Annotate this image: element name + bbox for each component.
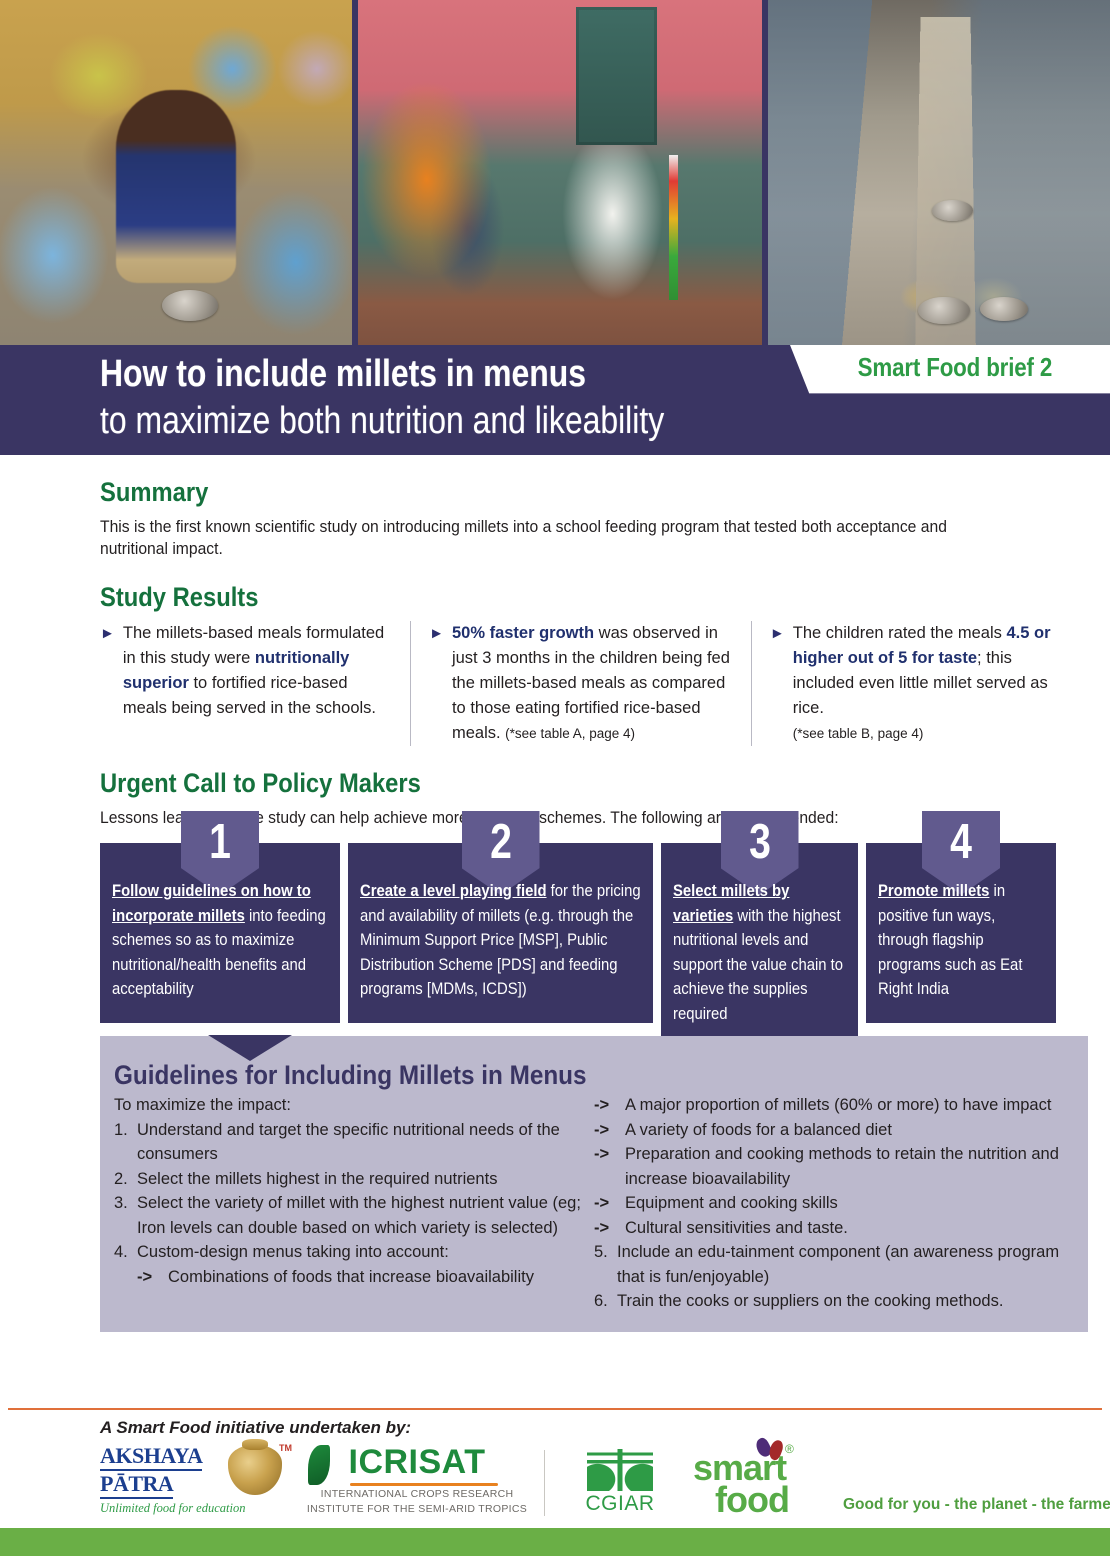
page-title: How to include millets in menus to maxim… bbox=[100, 351, 664, 445]
logo-separator bbox=[544, 1450, 545, 1516]
registered-symbol: ® bbox=[785, 1442, 794, 1456]
trademark-symbol: TM bbox=[279, 1443, 292, 1453]
smart-food-word-2: food bbox=[693, 1483, 843, 1516]
photo-1-foreground-child bbox=[116, 90, 236, 283]
guideline-text: Cultural sensitivities and taste. bbox=[625, 1216, 1064, 1241]
bullet-triangle-icon: ► bbox=[770, 621, 785, 746]
akshaya-patra-tagline: Unlimited food for education bbox=[100, 1501, 300, 1516]
policy-number-3: 3 bbox=[728, 811, 790, 873]
page-title-line-1: How to include millets in menus bbox=[100, 351, 664, 398]
guideline-text: Custom-design menus taking into account: bbox=[137, 1240, 584, 1265]
guideline-subitem: -> Equipment and cooking skills bbox=[594, 1191, 1064, 1216]
guideline-item: 3. Select the variety of millet with the… bbox=[114, 1191, 584, 1240]
policy-text-4: Promote millets in positive fun ways, th… bbox=[878, 879, 1046, 1002]
policy-text-2: Create a level playing field for the pri… bbox=[360, 879, 643, 1002]
cgiar-logo: CGIAR bbox=[561, 1449, 679, 1516]
guideline-item: 4. Custom-design menus taking into accou… bbox=[114, 1240, 584, 1265]
policy-recommendation-boxes: 1 Follow guidelines on how to incorporat… bbox=[100, 843, 1088, 1036]
wheat-sheaf-icon bbox=[587, 1449, 653, 1491]
brief-label: Smart Food brief 2 bbox=[858, 352, 1052, 383]
footer-credit-line: A Smart Food initiative undertaken by: bbox=[100, 1410, 1110, 1438]
guideline-item: 1. Understand and target the specific nu… bbox=[114, 1118, 584, 1167]
akshaya-patra-logo: TM AKSHAYA PĀTRA Unlimited food for educ… bbox=[100, 1443, 300, 1516]
policy-box-1: 1 Follow guidelines on how to incorporat… bbox=[100, 843, 340, 1023]
guideline-item: 6. Train the cooks or suppliers on the c… bbox=[594, 1289, 1064, 1314]
icrisat-subtitle-1: INTERNATIONAL CROPS RESEARCH bbox=[306, 1488, 528, 1501]
photo-children-eating-circle bbox=[0, 0, 352, 345]
icrisat-name: ICRISAT bbox=[306, 1443, 528, 1482]
guideline-marker: 4. bbox=[114, 1240, 137, 1265]
guideline-text: Include an edu-tainment component (an aw… bbox=[617, 1240, 1064, 1289]
main-content: Summary This is the first known scientif… bbox=[0, 477, 1110, 1332]
guideline-subitem: -> Preparation and cooking methods to re… bbox=[594, 1142, 1064, 1191]
guideline-text: A major proportion of millets (60% or mo… bbox=[625, 1093, 1064, 1118]
footer: A Smart Food initiative undertaken by: T… bbox=[0, 1408, 1110, 1556]
partner-logos: TM AKSHAYA PĀTRA Unlimited food for educ… bbox=[100, 1442, 1110, 1516]
photo-strip bbox=[0, 0, 1110, 345]
guideline-text: Train the cooks or suppliers on the cook… bbox=[617, 1289, 1064, 1314]
photo-3-plate bbox=[932, 200, 973, 221]
guideline-subitem: -> A variety of foods for a balanced die… bbox=[594, 1118, 1064, 1143]
title-band: Smart Food brief 2 How to include millet… bbox=[0, 345, 1110, 455]
guideline-item: 5. Include an edu-tainment component (an… bbox=[594, 1240, 1064, 1289]
bullet-triangle-icon: ► bbox=[429, 621, 444, 746]
guideline-arrow-marker: -> bbox=[137, 1265, 168, 1290]
guidelines-left-column: To maximize the impact: 1. Understand an… bbox=[114, 1093, 594, 1314]
guidelines-columns: To maximize the impact: 1. Understand an… bbox=[114, 1093, 1074, 1314]
photo-3-plate bbox=[918, 297, 969, 325]
summary-text: This is the first known scientific study… bbox=[100, 516, 955, 560]
guideline-text: Combinations of foods that increase bioa… bbox=[168, 1265, 584, 1290]
guideline-text: Equipment and cooking skills bbox=[625, 1191, 1064, 1216]
guidelines-right-column: -> A major proportion of millets (60% or… bbox=[594, 1093, 1064, 1314]
photo-1-plate bbox=[162, 290, 218, 321]
study-result-text: The millets-based meals formulated in th… bbox=[123, 621, 392, 746]
guideline-subitem: -> Cultural sensitivities and taste. bbox=[594, 1216, 1064, 1241]
study-result-text: The children rated the meals 4.5 or high… bbox=[793, 621, 1062, 746]
smart-food-logo: ® smart food Good for you - the planet -… bbox=[693, 1452, 843, 1516]
study-result-item: ► The millets-based meals formulated in … bbox=[100, 621, 410, 746]
guideline-text: Select the variety of millet with the hi… bbox=[137, 1191, 584, 1240]
panel-pointer-triangle-icon bbox=[208, 1035, 292, 1061]
study-result-item: ► The children rated the meals 4.5 or hi… bbox=[751, 621, 1080, 746]
study-result-text: 50% faster growth was observed in just 3… bbox=[452, 621, 733, 746]
guideline-arrow-marker: -> bbox=[594, 1216, 625, 1241]
guidelines-panel: Guidelines for Including Millets in Menu… bbox=[100, 1036, 1088, 1332]
policy-text-1: Follow guidelines on how to incorporate … bbox=[112, 879, 330, 1002]
guideline-item: 2. Select the millets highest in the req… bbox=[114, 1167, 584, 1192]
icrisat-underline bbox=[350, 1483, 498, 1486]
policy-number-4: 4 bbox=[930, 811, 992, 873]
photo-3-plate bbox=[980, 297, 1028, 321]
policy-box-2: 2 Create a level playing field for the p… bbox=[348, 843, 653, 1023]
akshaya-patra-line-1: AKSHAYA bbox=[100, 1443, 202, 1471]
study-results-heading: Study Results bbox=[100, 582, 969, 613]
photo-2-door bbox=[576, 7, 657, 145]
photo-2-scene bbox=[358, 0, 762, 345]
policy-heading: Urgent Call to Policy Makers bbox=[100, 768, 969, 799]
photo-child-arm-measurement bbox=[358, 0, 762, 345]
guidelines-intro: To maximize the impact: bbox=[114, 1093, 584, 1118]
summary-heading: Summary bbox=[100, 477, 969, 508]
guideline-text: Understand and target the specific nutri… bbox=[137, 1118, 584, 1167]
policy-box-3: 3 Select millets by varieties with the h… bbox=[661, 843, 858, 1036]
guideline-marker: 2. bbox=[114, 1167, 137, 1192]
photo-3-floor-aisle bbox=[915, 17, 976, 345]
guideline-arrow-marker: -> bbox=[594, 1191, 625, 1216]
guideline-arrow-marker: -> bbox=[594, 1093, 625, 1118]
bullet-triangle-icon: ► bbox=[100, 621, 115, 746]
icrisat-logo: ICRISAT INTERNATIONAL CROPS RESEARCH INS… bbox=[300, 1443, 528, 1516]
study-results-columns: ► The millets-based meals formulated in … bbox=[100, 621, 1088, 746]
icrisat-subtitle-2: INSTITUTE FOR THE SEMI-ARID TROPICS bbox=[306, 1503, 528, 1516]
guideline-arrow-marker: -> bbox=[594, 1118, 625, 1143]
guideline-text: Select the millets highest in the requir… bbox=[137, 1167, 584, 1192]
policy-box-4: 4 Promote millets in positive fun ways, … bbox=[866, 843, 1056, 1023]
guideline-text: A variety of foods for a balanced diet bbox=[625, 1118, 1064, 1143]
footer-green-bar bbox=[0, 1528, 1110, 1556]
table-reference-note: (*see table B, page 4) bbox=[793, 721, 1062, 746]
guidelines-title: Guidelines for Including Millets in Menu… bbox=[114, 1060, 978, 1091]
policy-text-3: Select millets by varieties with the hig… bbox=[673, 879, 848, 1026]
guideline-marker: 3. bbox=[114, 1191, 137, 1240]
page-title-line-2: to maximize both nutrition and likeabili… bbox=[100, 398, 664, 445]
table-reference-note: (*see table A, page 4) bbox=[505, 726, 635, 741]
akshaya-patra-line-2: PĀTRA bbox=[100, 1471, 173, 1499]
guideline-marker: 6. bbox=[594, 1289, 617, 1314]
guideline-text: Preparation and cooking methods to retai… bbox=[625, 1142, 1064, 1191]
guideline-subitem: -> Combinations of foods that increase b… bbox=[114, 1265, 584, 1290]
footer-body: A Smart Food initiative undertaken by: T… bbox=[0, 1410, 1110, 1528]
policy-number-1: 1 bbox=[189, 811, 251, 873]
study-result-item: ► 50% faster growth was observed in just… bbox=[410, 621, 751, 746]
guideline-marker: 5. bbox=[594, 1240, 617, 1289]
guideline-marker: 1. bbox=[114, 1118, 137, 1167]
policy-number-2: 2 bbox=[469, 811, 531, 873]
smart-food-slogan: Good for you - the planet - the farmer® bbox=[843, 1495, 1110, 1514]
cgiar-name: CGIAR bbox=[561, 1492, 679, 1516]
guideline-subitem: -> A major proportion of millets (60% or… bbox=[594, 1093, 1064, 1118]
photo-2-measuring-tape bbox=[669, 155, 678, 300]
guideline-arrow-marker: -> bbox=[594, 1142, 625, 1191]
photo-children-meal-rows bbox=[768, 0, 1110, 345]
